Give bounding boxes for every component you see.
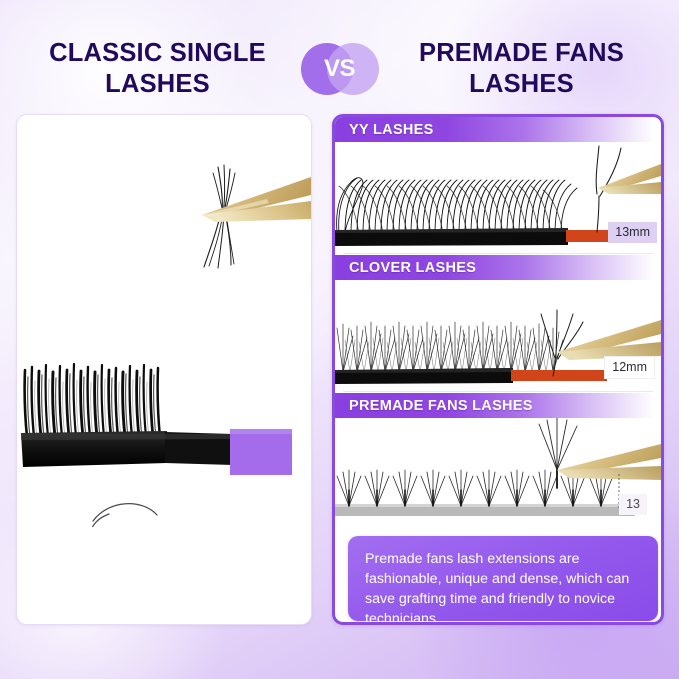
header: CLASSIC SINGLE LASHES VS PREMADE FANS LA… <box>0 26 679 112</box>
yy-lashes-label-band: YY LASHES <box>335 117 661 142</box>
yy-lashes-label: YY LASHES <box>335 122 434 138</box>
premade-fans-illustration <box>335 418 661 527</box>
infographic-root: CLASSIC SINGLE LASHES VS PREMADE FANS LA… <box>0 0 679 679</box>
vs-label: VS <box>324 57 355 82</box>
yy-lashes-measurement: 13mm <box>608 222 657 244</box>
premade-fans-art <box>335 418 661 527</box>
premade-fans-caption: Premade fans lash extensions are fashion… <box>348 536 658 621</box>
premade-fans-card: PREMADE FANS LASHES <box>335 393 661 527</box>
clover-lashes-card: CLOVER LASHES <box>335 255 661 389</box>
yy-lashes-card: YY LASHES <box>335 117 661 251</box>
classic-single-lashes-panel: Different styles can be grafted accordin… <box>16 114 312 625</box>
premade-fans-measurement: 13 <box>619 494 647 516</box>
right-title: PREMADE FANS LASHES <box>379 38 659 100</box>
premade-fans-lashes-panel: YY LASHES <box>332 114 664 625</box>
premade-fans-label-band: PREMADE FANS LASHES <box>335 393 661 418</box>
card-divider-1 <box>343 253 653 254</box>
premade-fans-label: PREMADE FANS LASHES <box>335 398 533 414</box>
vs-badge: VS <box>301 40 379 98</box>
left-title: CLASSIC SINGLE LASHES <box>21 38 301 100</box>
card-divider-2 <box>343 391 653 392</box>
clover-lashes-measurement: 12mm <box>604 356 655 380</box>
classic-lash-photo <box>17 115 311 527</box>
clover-lashes-label-band: CLOVER LASHES <box>335 255 661 280</box>
classic-lash-illustration <box>17 115 311 527</box>
clover-lashes-label: CLOVER LASHES <box>335 260 476 276</box>
